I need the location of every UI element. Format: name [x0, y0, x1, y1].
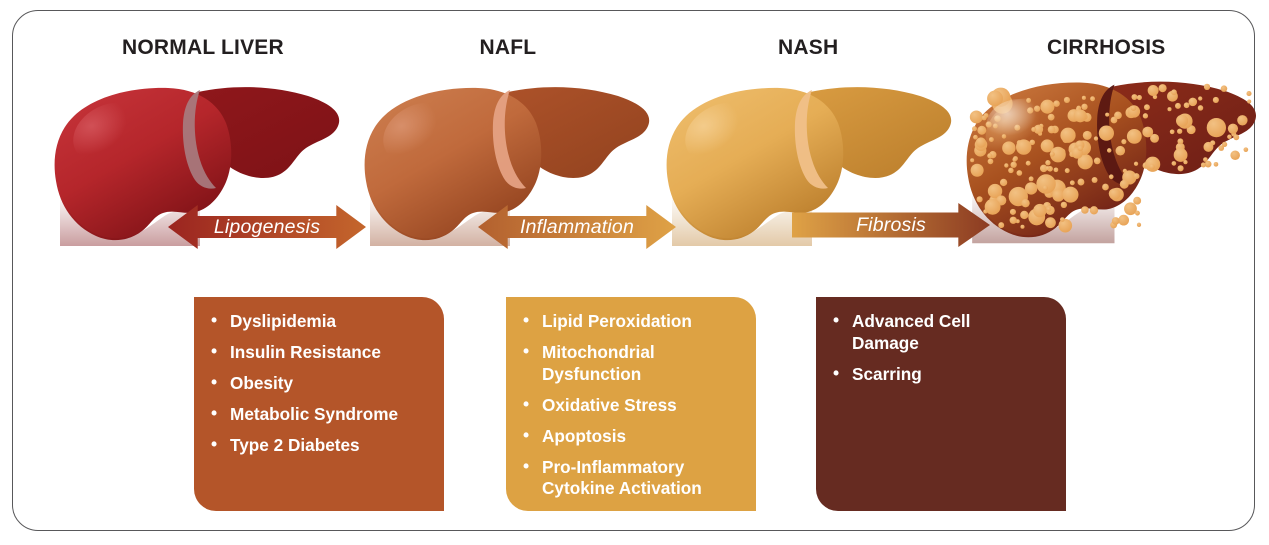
list-item: Pro-InflammatoryCytokine Activation	[522, 457, 744, 500]
list-item-text: Apoptosis	[542, 426, 626, 446]
list-item: Scarring	[832, 364, 1054, 386]
stage-title-nafl: NAFL	[480, 36, 537, 60]
list-item: Metabolic Syndrome	[210, 404, 432, 426]
liver-illustration-cirrhosis	[962, 70, 1267, 268]
list-item-text: Lipid Peroxidation	[542, 311, 692, 331]
list-item-text: Mitochondrial	[542, 342, 655, 362]
stage-title-cirrhosis: CIRRHOSIS	[1047, 36, 1165, 60]
list-item-text: Obesity	[230, 373, 293, 393]
info-list: Advanced CellDamageScarring	[832, 311, 1054, 385]
list-item-text: Pro-Inflammatory	[542, 457, 684, 477]
list-item-text: Dyslipidemia	[230, 311, 336, 331]
list-item-text-line2: Damage	[852, 333, 1054, 355]
info-box-nafl-factors: DyslipidemiaInsulin ResistanceObesityMet…	[194, 297, 444, 511]
list-item: Advanced CellDamage	[832, 311, 1054, 354]
list-item: Lipid Peroxidation	[522, 311, 744, 333]
info-box-cirrhosis-factors: Advanced CellDamageScarring	[816, 297, 1066, 511]
arrow-lipogenesis: Lipogenesis	[168, 203, 366, 251]
list-item: Apoptosis	[522, 426, 744, 448]
arrow-fibrosis: Fibrosis	[792, 202, 990, 248]
stage-title-nash: NASH	[778, 36, 838, 60]
list-item-text: Advanced Cell	[852, 311, 970, 331]
list-item-text: Metabolic Syndrome	[230, 404, 398, 424]
list-item-text: Scarring	[852, 364, 922, 384]
list-item-text-line2: Cytokine Activation	[542, 478, 744, 500]
list-item: Obesity	[210, 373, 432, 395]
diagram-stage: NORMAL LIVERNAFLNASHCIRRHOSISLipogenesis…	[0, 0, 1269, 545]
list-item-text-line2: Dysfunction	[542, 364, 744, 386]
list-item-text: Insulin Resistance	[230, 342, 381, 362]
list-item: Type 2 Diabetes	[210, 435, 432, 457]
arrow-inflammation: Inflammation	[478, 203, 676, 251]
info-list: Lipid PeroxidationMitochondrialDysfuncti…	[522, 311, 744, 500]
list-item-text: Oxidative Stress	[542, 395, 677, 415]
info-list: DyslipidemiaInsulin ResistanceObesityMet…	[210, 311, 432, 457]
list-item: Dyslipidemia	[210, 311, 432, 333]
list-item: Insulin Resistance	[210, 342, 432, 364]
list-item: MitochondrialDysfunction	[522, 342, 744, 385]
stage-title-normal-liver: NORMAL LIVER	[122, 36, 284, 60]
list-item-text: Type 2 Diabetes	[230, 435, 360, 455]
info-box-nash-factors: Lipid PeroxidationMitochondrialDysfuncti…	[506, 297, 756, 511]
list-item: Oxidative Stress	[522, 395, 744, 417]
